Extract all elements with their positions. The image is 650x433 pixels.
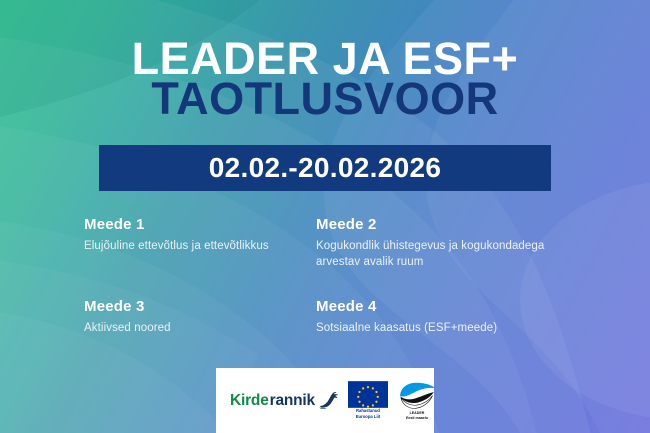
poster-canvas: LEADER JA ESF+ TAOTLUSVOOR 02.02.-20.02.… bbox=[0, 0, 650, 433]
estonia-leader-icon bbox=[396, 380, 438, 411]
kirderannik-logo: Kirde rannik bbox=[230, 389, 340, 413]
eu-emblem-caption-line-2: Euroopa Liit bbox=[356, 415, 380, 420]
kirderannik-navy-part: rannik bbox=[270, 392, 315, 410]
measure-4-description: Sotsiaalne kaasatus (ESF+meede) bbox=[316, 320, 564, 336]
measure-4-title: Meede 4 bbox=[316, 298, 584, 315]
eu-funding-emblem: Rahastanud Euroopa Liit bbox=[348, 381, 388, 419]
measure-item-3: Meede 3 Aktiivsed noored bbox=[84, 298, 316, 336]
measure-2-description: Kogukondlik ühistegevus ja kogukondadega… bbox=[316, 238, 564, 271]
measure-1-description: Elujõuline ettevõtlus ja ettevõtlikkus bbox=[84, 238, 316, 254]
measure-3-title: Meede 3 bbox=[84, 298, 316, 315]
seagull-icon bbox=[316, 389, 340, 413]
headline-line-2: TAOTLUSVOOR bbox=[0, 78, 650, 120]
leader-estonia-emblem: LEADER Eesti maaelu bbox=[396, 380, 438, 421]
leader-emblem-caption-line-2: Eesti maaelu bbox=[406, 417, 428, 421]
eu-flag-icon bbox=[348, 381, 388, 408]
kirderannik-green-part: Kirde bbox=[230, 392, 269, 410]
measure-2-title: Meede 2 bbox=[316, 216, 584, 233]
poster-headline: LEADER JA ESF+ TAOTLUSVOOR bbox=[0, 38, 650, 121]
measures-grid: Meede 1 Elujõuline ettevõtlus ja ettevõt… bbox=[84, 216, 584, 336]
footer-logo-strip: Kirde rannik bbox=[216, 368, 434, 433]
measure-3-description: Aktiivsed noored bbox=[84, 320, 316, 336]
date-range-band: 02.02.-20.02.2026 bbox=[99, 145, 551, 191]
measure-item-4: Meede 4 Sotsiaalne kaasatus (ESF+meede) bbox=[316, 298, 584, 336]
measure-item-2: Meede 2 Kogukondlik ühistegevus ja koguk… bbox=[316, 216, 584, 298]
measure-1-title: Meede 1 bbox=[84, 216, 316, 233]
measure-item-1: Meede 1 Elujõuline ettevõtlus ja ettevõt… bbox=[84, 216, 316, 298]
date-range-text: 02.02.-20.02.2026 bbox=[209, 152, 441, 184]
